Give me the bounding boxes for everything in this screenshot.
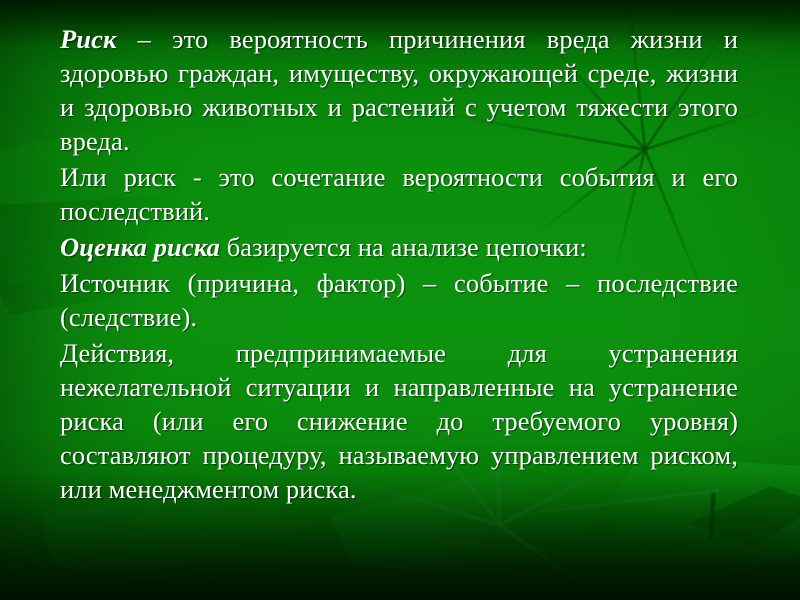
presentation-slide: Риск – это вероятность причинения вреда … [0,0,800,600]
lead-term-risk-assessment: Оценка риска [60,232,220,262]
paragraph-risk-definition: Риск – это вероятность причинения вреда … [60,22,738,158]
paragraph-risk-alternative-definition: Или риск - это сочетание вероятности соб… [60,160,738,228]
paragraph-risk-assessment: Оценка риска базируется на анализе цепоч… [60,230,738,264]
paragraph-text: Или риск - это сочетание вероятности соб… [60,162,738,226]
paragraph-text: Действия, предпринимаемые для устранения… [60,338,738,504]
paragraph-risk-management: Действия, предпринимаемые для устранения… [60,336,738,506]
paragraph-text: Источник (причина, фактор) – событие – п… [60,268,738,332]
paragraph-text: базируется на анализе цепочки: [220,232,587,262]
paragraph-risk-chain: Источник (причина, фактор) – событие – п… [60,266,738,334]
paragraph-text: – это вероятность причинения вреда жизни… [60,24,738,156]
lead-term-risk: Риск [60,24,117,54]
slide-text-body: Риск – это вероятность причинения вреда … [60,22,738,506]
